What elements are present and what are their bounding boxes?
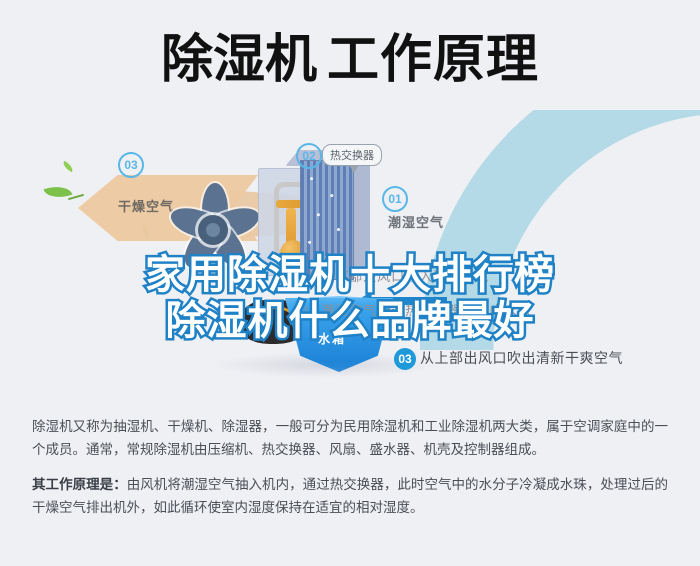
overlay-headline-line-1: 家用除湿机十大排行榜	[0, 252, 700, 298]
page-root: 除湿机工作原理 干燥空气	[0, 0, 700, 566]
humid-air-label: 潮湿空气	[388, 212, 444, 231]
leaf-icon	[61, 161, 75, 172]
infographic-title: 除湿机工作原理	[0, 30, 700, 90]
overlay-headline: 家用除湿机十大排行榜 除湿机什么品牌最好	[0, 252, 700, 344]
article-paragraph-1: 除湿机又称为抽湿机、干燥机、除湿器，一般可分为民用除湿机和工业除湿机两大类，属于…	[32, 416, 668, 462]
step-badge-02: 02	[296, 143, 322, 169]
fan-hub	[198, 215, 228, 245]
article-paragraph-2-lead: 其工作原理是：	[32, 477, 127, 493]
step-badge-03-left: 03	[118, 152, 144, 178]
heat-exchanger-callout: 热交换器	[322, 144, 382, 166]
article-paragraph-2: 其工作原理是：由风机将潮湿空气抽入机内，通过热交换器，此时空气中的水分子冷凝成水…	[32, 474, 668, 520]
article-paragraph-2-rest: 由风机将潮湿空气抽入机内，通过热交换器，此时空气中的水分子冷凝成水珠，处理过后的…	[32, 477, 668, 516]
article-body: 除湿机又称为抽湿机、干燥机、除湿器，一般可分为民用除湿机和工业除湿机两大类，属于…	[32, 416, 668, 532]
infographic-image: 除湿机工作原理 干燥空气	[0, 0, 700, 400]
title-part-2: 工作原理	[327, 31, 539, 89]
step-badge-01: 01	[382, 186, 408, 212]
title-part-1: 除湿机	[161, 31, 317, 89]
step-03-text: 从上部出风口吹出清新干爽空气	[420, 348, 623, 368]
overlay-headline-line-2: 除湿机什么品牌最好	[0, 298, 700, 344]
step-badge-03-bottom: 03	[394, 348, 416, 370]
